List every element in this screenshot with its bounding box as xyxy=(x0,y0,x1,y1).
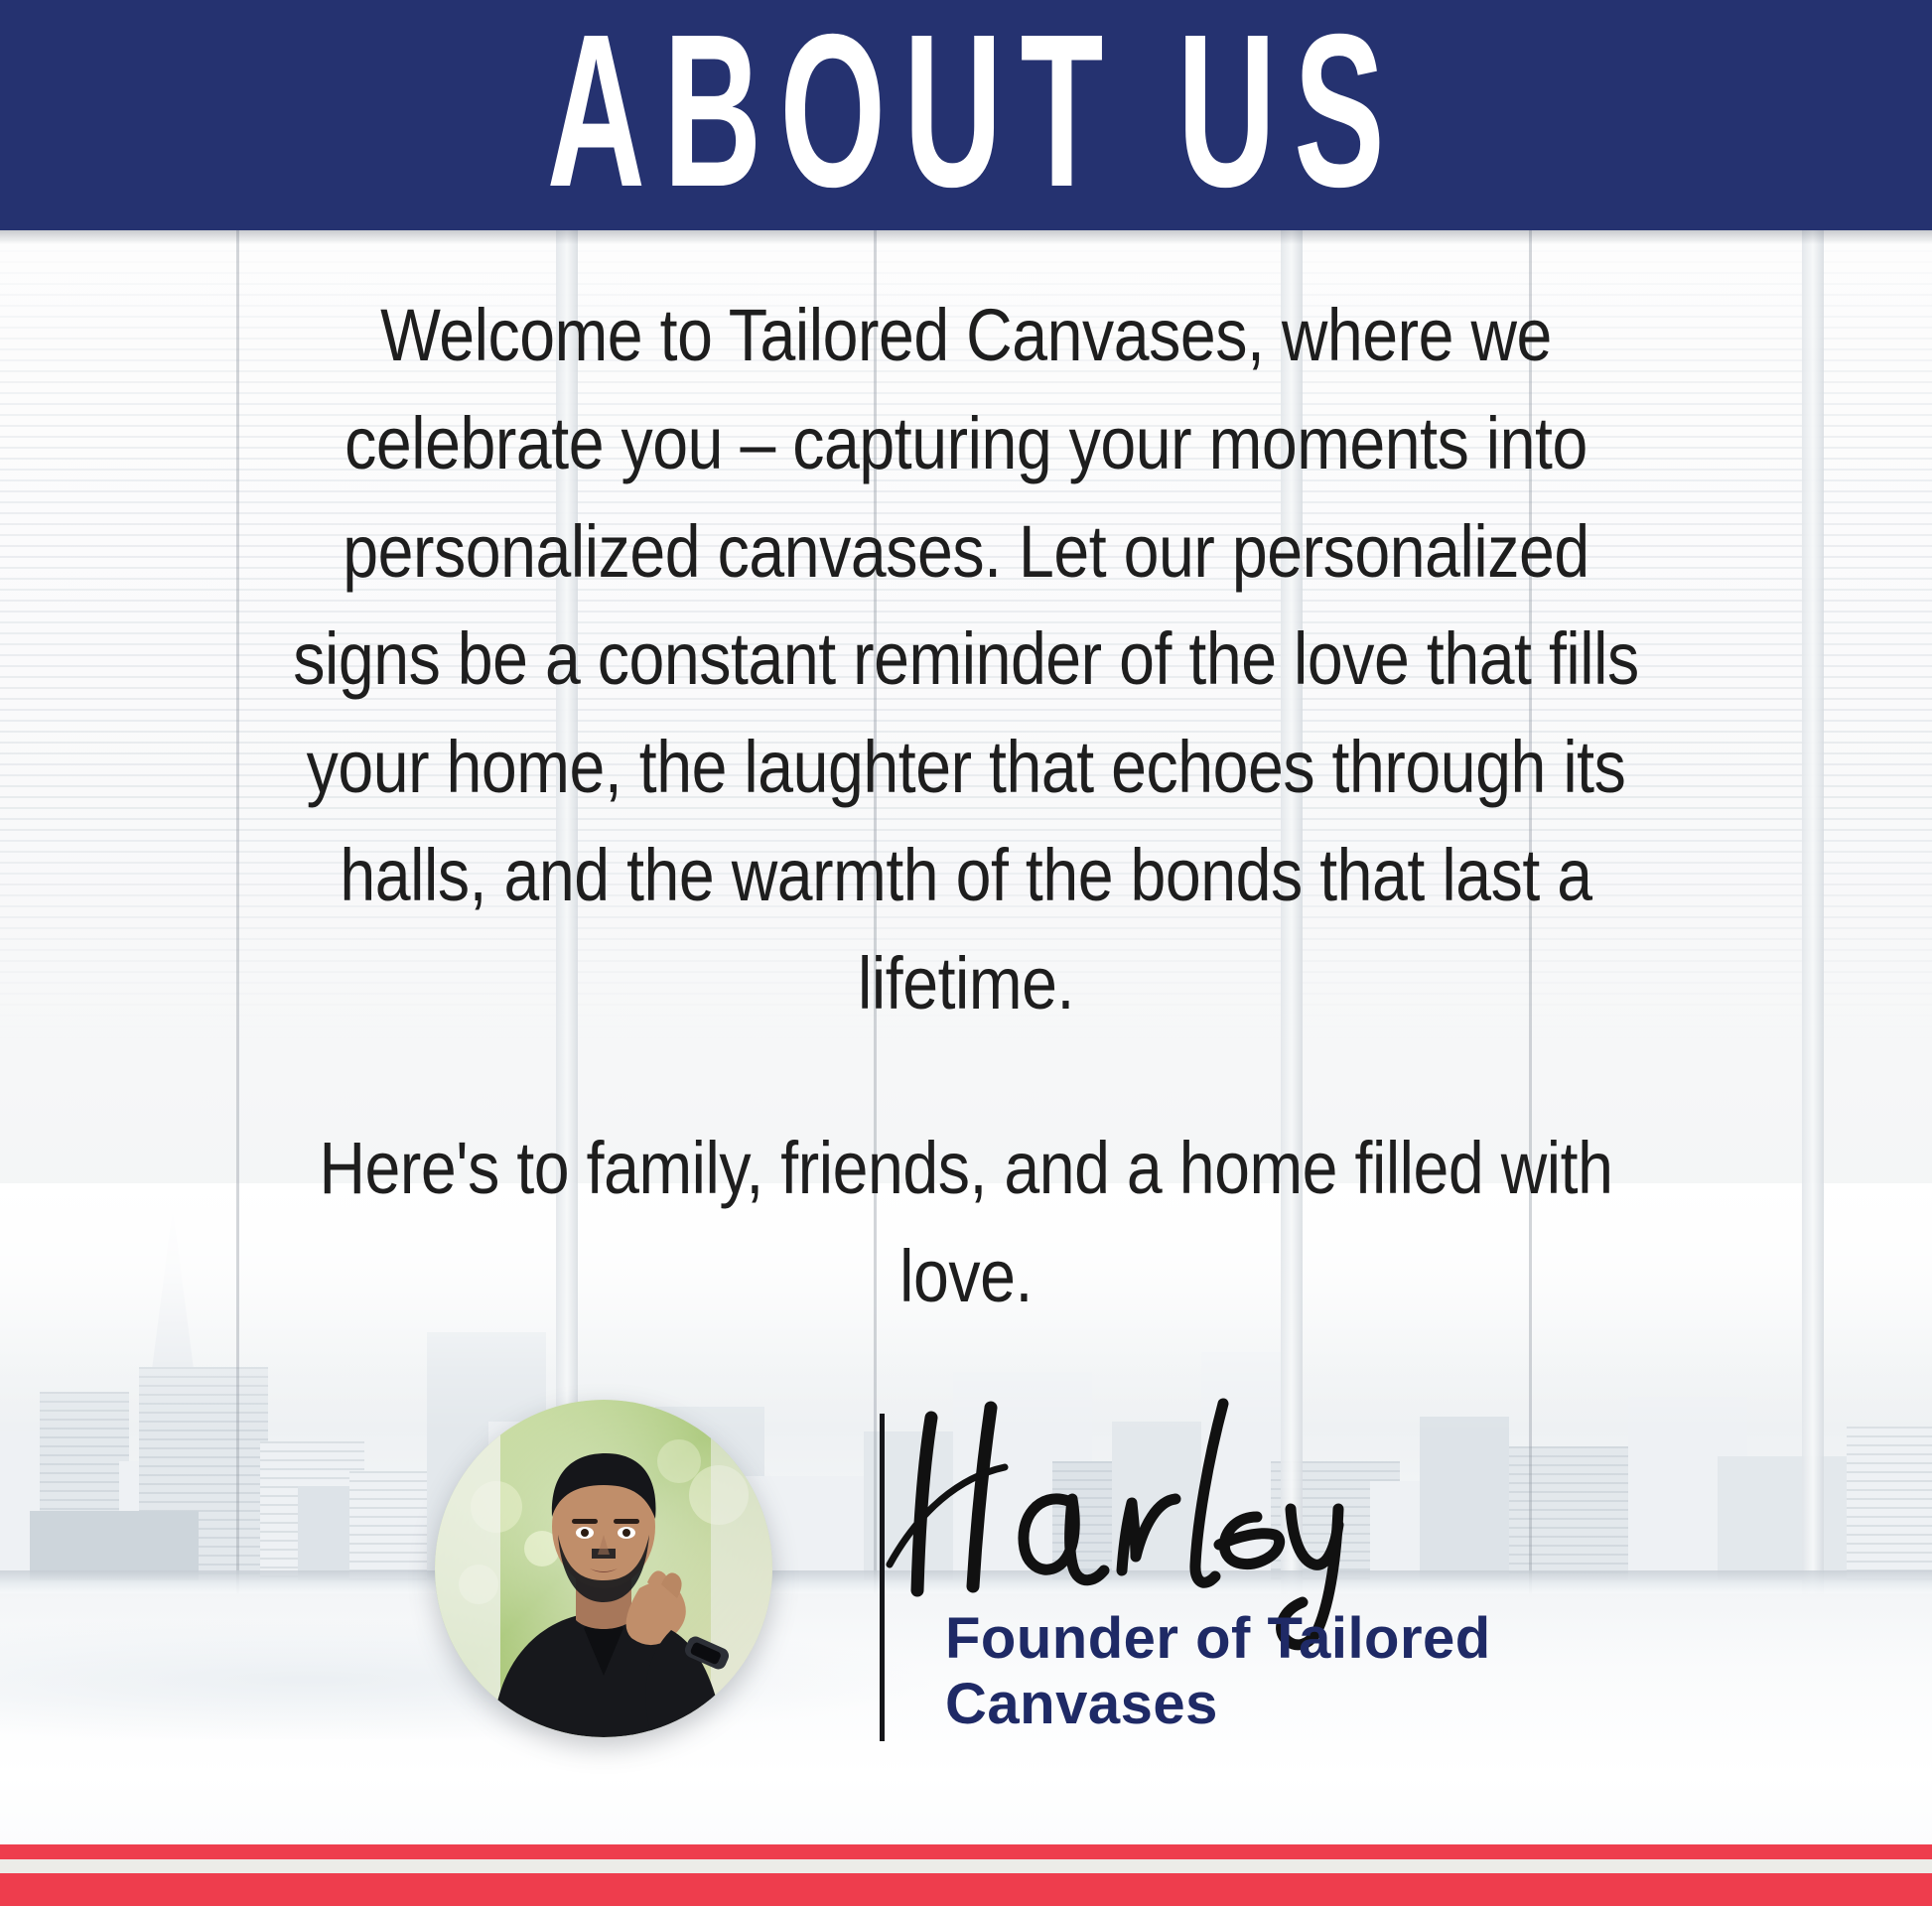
copy-paragraph-1: Welcome to Tailored Canvases, where we c… xyxy=(288,282,1644,1037)
founder-title-line-1: Founder of Tailored xyxy=(945,1606,1640,1672)
avatar xyxy=(435,1400,772,1737)
about-us-poster: ABOUT US Welcome to Tailored Canvases, w… xyxy=(0,0,1932,1906)
banner-drop-shadow xyxy=(0,230,1932,244)
about-us-banner: ABOUT US xyxy=(0,0,1932,230)
founder-block: Founder of Tailored Canvases xyxy=(0,1390,1932,1807)
copy-paragraph-2: Here's to family, friends, and a home fi… xyxy=(288,1115,1644,1331)
vertical-divider xyxy=(880,1414,885,1741)
founder-title: Founder of Tailored Canvases xyxy=(945,1606,1640,1736)
paragraph-spacer xyxy=(288,1037,1644,1115)
footer-accent-bar-bottom xyxy=(0,1873,1932,1906)
footer-bar-gap xyxy=(0,1859,1932,1873)
founder-title-line-2: Canvases xyxy=(945,1672,1640,1737)
footer-accent-bar-top xyxy=(0,1844,1932,1859)
page-title: ABOUT US xyxy=(529,2,1403,220)
about-us-copy: Welcome to Tailored Canvases, where we c… xyxy=(288,282,1644,1331)
